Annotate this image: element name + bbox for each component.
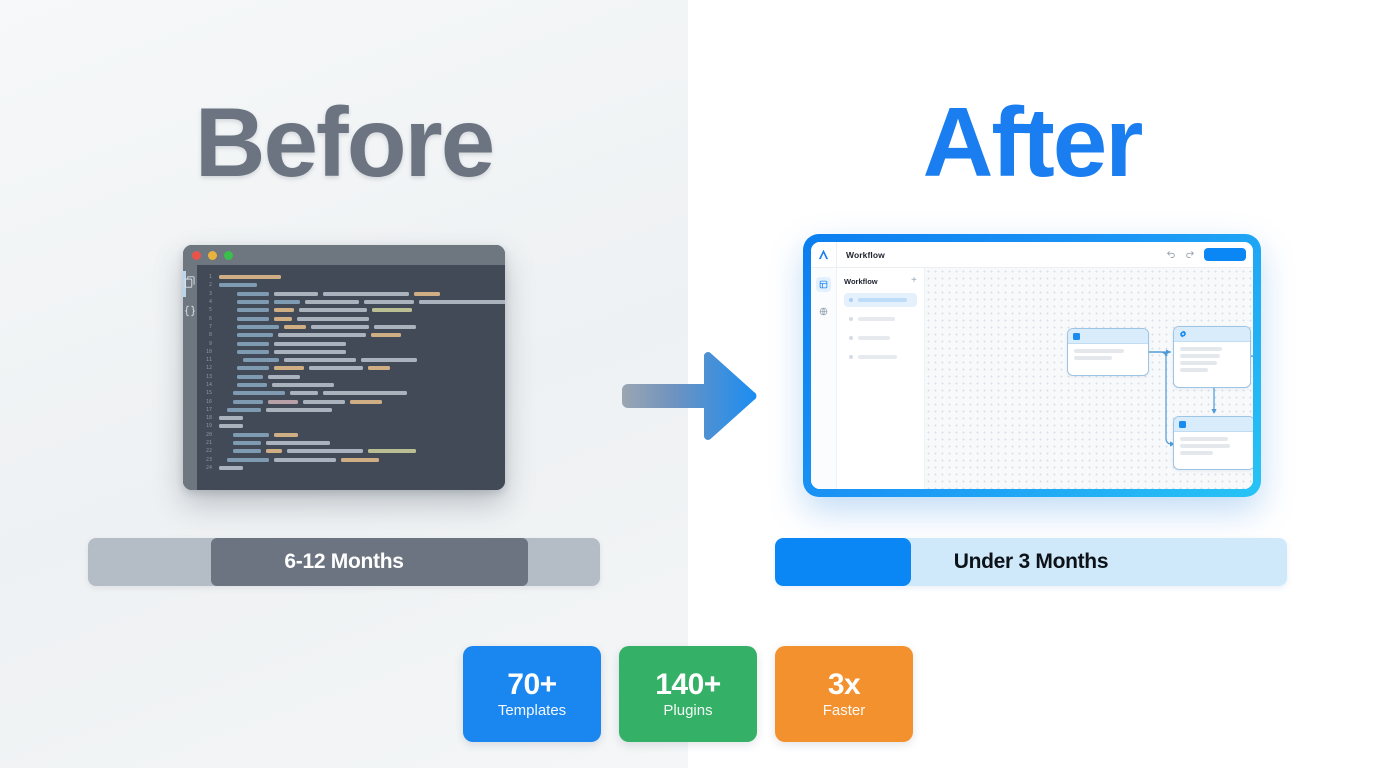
line-number: 14 bbox=[197, 382, 219, 388]
code-token bbox=[290, 391, 318, 395]
editor-activity-rail bbox=[183, 265, 197, 490]
code-token bbox=[297, 317, 369, 321]
code-token bbox=[419, 300, 505, 304]
code-token bbox=[237, 333, 273, 337]
code-token bbox=[303, 400, 345, 404]
code-line: 3 bbox=[197, 290, 505, 298]
before-timeline-bar: 6-12 Months bbox=[88, 538, 600, 586]
app-logo-icon[interactable] bbox=[811, 242, 837, 268]
line-number: 23 bbox=[197, 457, 219, 463]
code-token bbox=[266, 441, 330, 445]
list-item-placeholder bbox=[858, 336, 890, 340]
code-token bbox=[266, 449, 282, 453]
line-number: 11 bbox=[197, 357, 219, 363]
node-body bbox=[1068, 344, 1148, 366]
stat-number: 70+ bbox=[507, 669, 556, 701]
code-token bbox=[237, 317, 269, 321]
globe-icon[interactable] bbox=[816, 304, 831, 319]
code-token bbox=[414, 292, 440, 296]
list-item-placeholder bbox=[858, 298, 907, 302]
stat-number: 140+ bbox=[655, 669, 721, 701]
code-token bbox=[274, 300, 300, 304]
code-line: 5 bbox=[197, 306, 505, 314]
workflow-app-title: Workflow bbox=[837, 250, 885, 260]
node-header bbox=[1068, 329, 1148, 344]
code-token bbox=[368, 449, 416, 453]
code-token bbox=[368, 366, 390, 370]
before-bar-label: 6-12 Months bbox=[88, 550, 600, 574]
line-number: 5 bbox=[197, 307, 219, 313]
workflow-sidebar: Workflow + bbox=[837, 268, 925, 489]
line-number: 1 bbox=[197, 274, 219, 280]
undo-icon[interactable] bbox=[1166, 250, 1176, 260]
code-token bbox=[274, 350, 346, 354]
code-token bbox=[233, 433, 269, 437]
code-token bbox=[237, 366, 269, 370]
line-number: 15 bbox=[197, 390, 219, 396]
code-token bbox=[284, 358, 356, 362]
sidebar-list-item[interactable] bbox=[844, 312, 917, 326]
code-token bbox=[219, 466, 243, 470]
close-traffic-light-icon[interactable] bbox=[192, 251, 201, 260]
before-heading: Before bbox=[0, 93, 688, 191]
node-text-placeholder bbox=[1180, 451, 1213, 455]
braces-icon[interactable] bbox=[183, 304, 197, 318]
code-token bbox=[237, 342, 269, 346]
sidebar-list-item[interactable] bbox=[844, 350, 917, 364]
code-token bbox=[278, 333, 366, 337]
code-line: 18 bbox=[197, 414, 505, 422]
line-number: 13 bbox=[197, 374, 219, 380]
code-token bbox=[372, 308, 412, 312]
list-item-dot-icon bbox=[849, 298, 853, 302]
code-token bbox=[233, 449, 261, 453]
code-token bbox=[309, 366, 363, 370]
code-token bbox=[237, 383, 267, 387]
line-number: 7 bbox=[197, 324, 219, 330]
code-token bbox=[371, 333, 401, 337]
code-token bbox=[237, 308, 269, 312]
code-line: 21 bbox=[197, 439, 505, 447]
stat-badges: 70+Templates140+Plugins3xFaster bbox=[463, 646, 913, 742]
code-token bbox=[350, 400, 382, 404]
code-token bbox=[233, 441, 261, 445]
list-item-placeholder bbox=[858, 355, 897, 359]
list-item-placeholder bbox=[858, 317, 895, 321]
stat-badge: 140+Plugins bbox=[619, 646, 757, 742]
code-token bbox=[219, 275, 281, 279]
sidebar-list-item[interactable] bbox=[844, 293, 917, 307]
line-number: 19 bbox=[197, 423, 219, 429]
line-number: 16 bbox=[197, 399, 219, 405]
after-bar-label: Under 3 Months bbox=[775, 550, 1287, 574]
code-editor-window: 123456789101112131415161718192021222324 bbox=[183, 245, 505, 490]
line-number: 18 bbox=[197, 415, 219, 421]
node-body bbox=[1174, 432, 1253, 461]
editor-titlebar bbox=[183, 245, 505, 265]
code-token bbox=[237, 300, 269, 304]
workflow-canvas[interactable] bbox=[925, 268, 1253, 489]
code-line: 7 bbox=[197, 323, 505, 331]
list-item-dot-icon bbox=[849, 317, 853, 321]
code-token bbox=[233, 391, 285, 395]
node-body bbox=[1174, 342, 1250, 378]
maximize-traffic-light-icon[interactable] bbox=[224, 251, 233, 260]
line-number: 2 bbox=[197, 282, 219, 288]
after-timeline-bar: Under 3 Months bbox=[775, 538, 1287, 586]
line-number: 6 bbox=[197, 316, 219, 322]
code-token bbox=[274, 342, 346, 346]
code-line: 15 bbox=[197, 389, 505, 397]
code-line: 23 bbox=[197, 456, 505, 464]
stat-label: Plugins bbox=[663, 702, 712, 719]
stat-badge: 3xFaster bbox=[775, 646, 913, 742]
code-line: 13 bbox=[197, 373, 505, 381]
plus-icon[interactable]: + bbox=[911, 276, 917, 286]
code-line: 12 bbox=[197, 364, 505, 372]
stat-label: Faster bbox=[823, 702, 866, 719]
code-token bbox=[361, 358, 417, 362]
code-token bbox=[237, 325, 279, 329]
stat-badge: 70+Templates bbox=[463, 646, 601, 742]
node-header bbox=[1174, 327, 1250, 342]
gear-icon bbox=[1179, 326, 1187, 343]
code-token bbox=[233, 400, 263, 404]
code-token bbox=[272, 383, 334, 387]
code-line: 4 bbox=[197, 298, 505, 306]
code-line: 1 bbox=[197, 273, 505, 281]
code-token bbox=[274, 317, 292, 321]
code-line: 20 bbox=[197, 431, 505, 439]
code-line: 14 bbox=[197, 381, 505, 389]
minimize-traffic-light-icon[interactable] bbox=[208, 251, 217, 260]
code-line: 10 bbox=[197, 348, 505, 356]
stat-label: Templates bbox=[498, 702, 566, 719]
code-line: 11 bbox=[197, 356, 505, 364]
code-line: 6 bbox=[197, 314, 505, 322]
code-line: 24 bbox=[197, 464, 505, 472]
node-text-placeholder bbox=[1180, 354, 1220, 358]
code-token bbox=[219, 424, 243, 428]
code-line: 22 bbox=[197, 447, 505, 455]
code-token bbox=[287, 449, 363, 453]
code-token bbox=[268, 375, 300, 379]
code-token bbox=[274, 308, 294, 312]
files-icon[interactable] bbox=[183, 275, 197, 289]
line-number: 9 bbox=[197, 341, 219, 347]
code-token bbox=[311, 325, 369, 329]
dashboard-icon[interactable] bbox=[816, 277, 831, 292]
code-token bbox=[374, 325, 416, 329]
code-line: 9 bbox=[197, 339, 505, 347]
editor-body: 123456789101112131415161718192021222324 bbox=[183, 265, 505, 490]
line-number: 3 bbox=[197, 291, 219, 297]
code-token bbox=[237, 292, 269, 296]
node-text-placeholder bbox=[1074, 349, 1124, 353]
list-item-dot-icon bbox=[849, 336, 853, 340]
editor-code-area[interactable]: 123456789101112131415161718192021222324 bbox=[197, 265, 505, 490]
code-token bbox=[237, 375, 263, 379]
code-token bbox=[219, 416, 243, 420]
line-number: 24 bbox=[197, 465, 219, 471]
after-heading: After bbox=[688, 93, 1376, 191]
list-item-dot-icon bbox=[849, 355, 853, 359]
line-number: 12 bbox=[197, 365, 219, 371]
workflow-node[interactable] bbox=[1173, 326, 1251, 388]
code-token bbox=[323, 391, 407, 395]
code-token bbox=[237, 350, 269, 354]
code-token bbox=[305, 300, 359, 304]
code-token bbox=[341, 458, 379, 462]
redo-icon[interactable] bbox=[1185, 250, 1195, 260]
node-text-placeholder bbox=[1180, 347, 1222, 351]
code-token bbox=[266, 408, 332, 412]
line-number: 20 bbox=[197, 432, 219, 438]
workflow-activity-rail bbox=[811, 268, 837, 489]
code-line: 2 bbox=[197, 281, 505, 289]
node-text-placeholder bbox=[1180, 437, 1228, 441]
line-number: 22 bbox=[197, 448, 219, 454]
line-number: 8 bbox=[197, 332, 219, 338]
line-number: 17 bbox=[197, 407, 219, 413]
node-text-placeholder bbox=[1180, 368, 1208, 372]
stat-number: 3x bbox=[828, 669, 860, 701]
code-token bbox=[274, 292, 318, 296]
sidebar-title: Workflow bbox=[844, 277, 878, 286]
workflow-app-window: Workflow bbox=[803, 234, 1261, 497]
code-line: 16 bbox=[197, 397, 505, 405]
code-token bbox=[274, 366, 304, 370]
node-text-placeholder bbox=[1074, 356, 1112, 360]
code-token bbox=[268, 400, 298, 404]
code-token bbox=[323, 292, 409, 296]
comparison-infographic: Before After bbox=[0, 0, 1376, 768]
workflow-node[interactable] bbox=[1067, 328, 1149, 376]
code-token bbox=[274, 433, 298, 437]
code-token bbox=[364, 300, 414, 304]
code-token bbox=[299, 308, 367, 312]
code-line: 19 bbox=[197, 422, 505, 430]
line-number: 10 bbox=[197, 349, 219, 355]
code-token bbox=[227, 458, 269, 462]
code-token bbox=[243, 358, 279, 362]
code-token bbox=[284, 325, 306, 329]
square-icon bbox=[1179, 421, 1186, 428]
workflow-node[interactable] bbox=[1173, 416, 1253, 470]
code-token bbox=[227, 408, 261, 412]
primary-action-button[interactable] bbox=[1204, 248, 1246, 261]
workflow-topbar: Workflow bbox=[811, 242, 1253, 268]
code-token bbox=[219, 283, 257, 287]
square-icon bbox=[1073, 333, 1080, 340]
line-number: 4 bbox=[197, 299, 219, 305]
code-line: 8 bbox=[197, 331, 505, 339]
node-text-placeholder bbox=[1180, 361, 1217, 365]
node-header bbox=[1174, 417, 1253, 432]
node-text-placeholder bbox=[1180, 444, 1230, 448]
sidebar-list-item[interactable] bbox=[844, 331, 917, 345]
code-token bbox=[274, 458, 336, 462]
line-number: 21 bbox=[197, 440, 219, 446]
right-arrow-icon bbox=[620, 350, 760, 442]
code-line: 17 bbox=[197, 406, 505, 414]
